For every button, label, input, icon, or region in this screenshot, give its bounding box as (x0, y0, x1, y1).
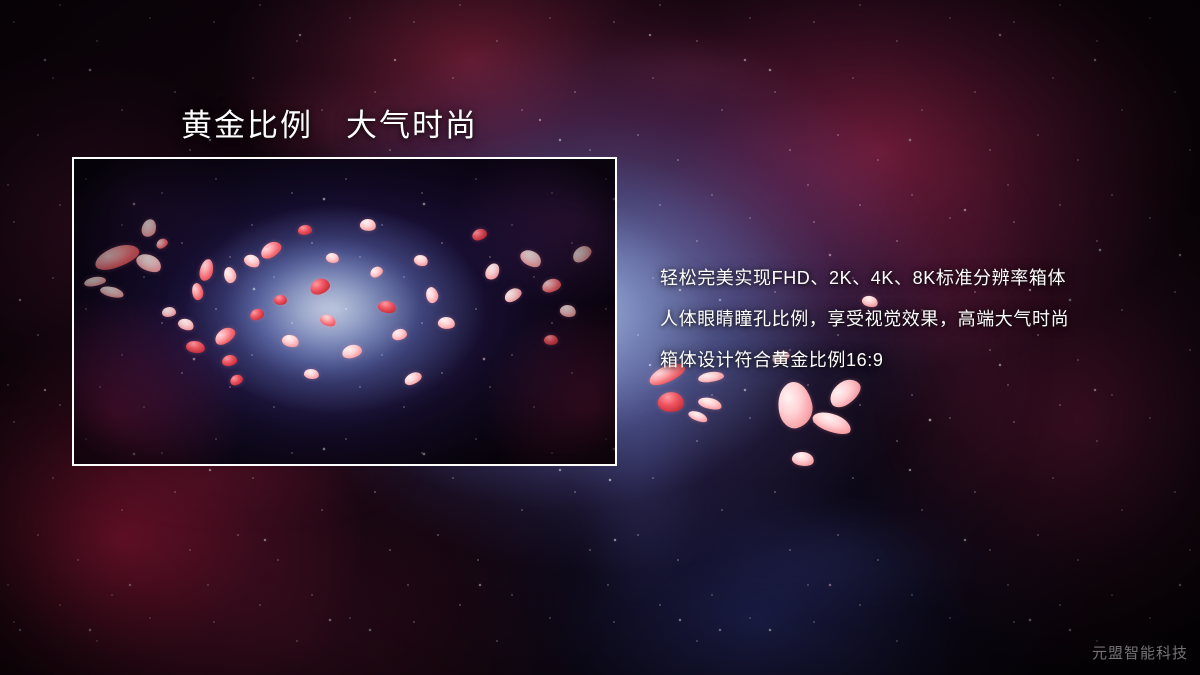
framed-media-panel (72, 157, 617, 466)
body-copy-block: 轻松完美实现FHD、2K、4K、8K标准分辨率箱体 人体眼睛瞳孔比例，享受视觉效… (660, 258, 1170, 381)
slide-title: 黄金比例 大气时尚 (181, 100, 478, 145)
presentation-slide: 黄金比例 大气时尚 轻松完美实现FHD、2K、4K、8K标准分辨率箱体 人体眼睛… (0, 0, 1200, 675)
panel-vignette (74, 159, 615, 464)
body-copy-line: 箱体设计符合黄金比例16:9 (660, 340, 1170, 381)
body-copy-line: 轻松完美实现FHD、2K、4K、8K标准分辨率箱体 (660, 258, 1170, 299)
body-copy-line: 人体眼睛瞳孔比例，享受视觉效果，高端大气时尚 (660, 299, 1170, 340)
watermark: 元盟智能科技 (1092, 642, 1188, 663)
